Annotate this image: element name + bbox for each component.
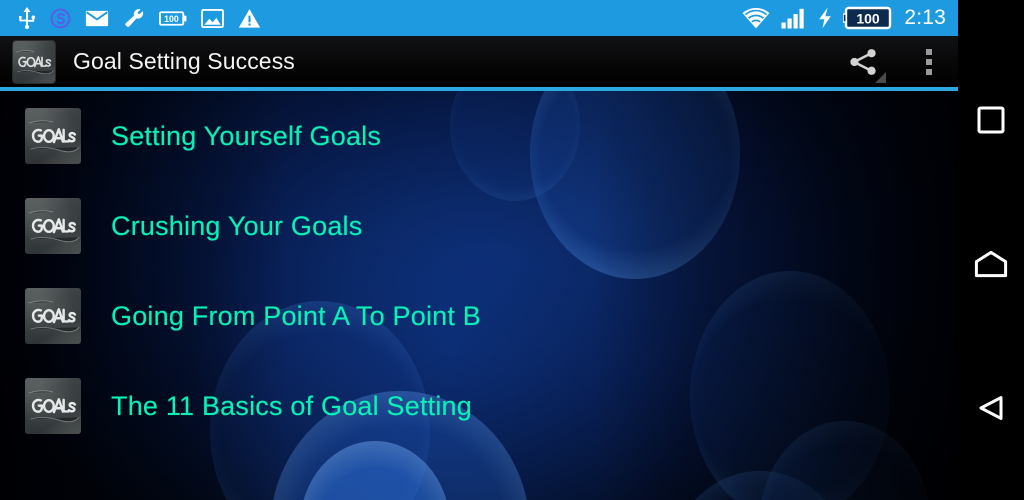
overflow-dot-icon: [926, 59, 932, 65]
home-button[interactable]: [958, 218, 1024, 310]
list-item[interactable]: The 11 Basics of Goal Setting: [0, 361, 958, 451]
list-item[interactable]: Setting Yourself Goals: [0, 91, 958, 181]
status-bar: 100: [0, 0, 958, 36]
home-icon: [974, 250, 1008, 278]
recents-button[interactable]: [958, 74, 1024, 166]
list-item[interactable]: Crushing Your Goals: [0, 181, 958, 271]
list-item-title: Going From Point A To Point B: [111, 301, 481, 332]
list-item-thumbnail: [25, 198, 81, 254]
phone-viewport: 100: [0, 0, 958, 500]
status-bar-left-icons: 100: [0, 7, 261, 29]
list-item-thumbnail: [25, 108, 81, 164]
wrench-icon: [123, 7, 145, 29]
status-bar-right-icons: 100 2:13: [742, 6, 958, 30]
back-triangle-icon: [976, 393, 1006, 423]
list-item-title: The 11 Basics of Goal Setting: [111, 391, 472, 422]
back-button[interactable]: [958, 362, 1024, 454]
share-button[interactable]: [826, 36, 900, 87]
content-area: Setting Yourself Goals: [0, 91, 958, 500]
thumbnail-chalk-text: [25, 288, 81, 344]
list-item-thumbnail: [25, 378, 81, 434]
status-bar-clock: 2:13: [904, 7, 946, 29]
charging-bolt-icon: [818, 7, 832, 29]
usb-icon: [18, 7, 36, 29]
android-screen: 100: [0, 0, 1024, 500]
thumbnail-chalk-text: [25, 378, 81, 434]
svg-text:100: 100: [164, 13, 179, 23]
svg-text:100: 100: [857, 10, 881, 26]
skype-icon: [50, 8, 71, 29]
wifi-icon: [742, 8, 770, 29]
thumbnail-chalk-text: [25, 108, 81, 164]
action-bar: Goal Setting Success: [0, 36, 958, 87]
overflow-dot-icon: [926, 49, 932, 55]
navigation-bar: [958, 0, 1024, 500]
list-item-title: Crushing Your Goals: [111, 211, 362, 242]
app-icon-chalk-text: [13, 41, 55, 83]
page-title: Goal Setting Success: [73, 48, 295, 75]
battery-full-icon: 100: [159, 10, 187, 27]
battery-status-icon: 100: [843, 6, 893, 30]
list-item-thumbnail: [25, 288, 81, 344]
action-bar-actions: [826, 36, 958, 87]
share-dropdown-caret-icon: [875, 72, 886, 83]
signal-icon: [781, 8, 807, 29]
bokeh-circle: [660, 471, 860, 500]
image-icon: [201, 9, 224, 28]
list-item[interactable]: Going From Point A To Point B: [0, 271, 958, 361]
thumbnail-chalk-text: [25, 198, 81, 254]
warning-icon: [238, 8, 261, 29]
list-item-title: Setting Yourself Goals: [111, 121, 381, 152]
overflow-menu-button[interactable]: [900, 36, 958, 87]
overflow-dot-icon: [926, 69, 932, 75]
mail-icon: [85, 10, 109, 27]
recents-square-icon: [976, 105, 1006, 135]
app-icon: [13, 41, 55, 83]
